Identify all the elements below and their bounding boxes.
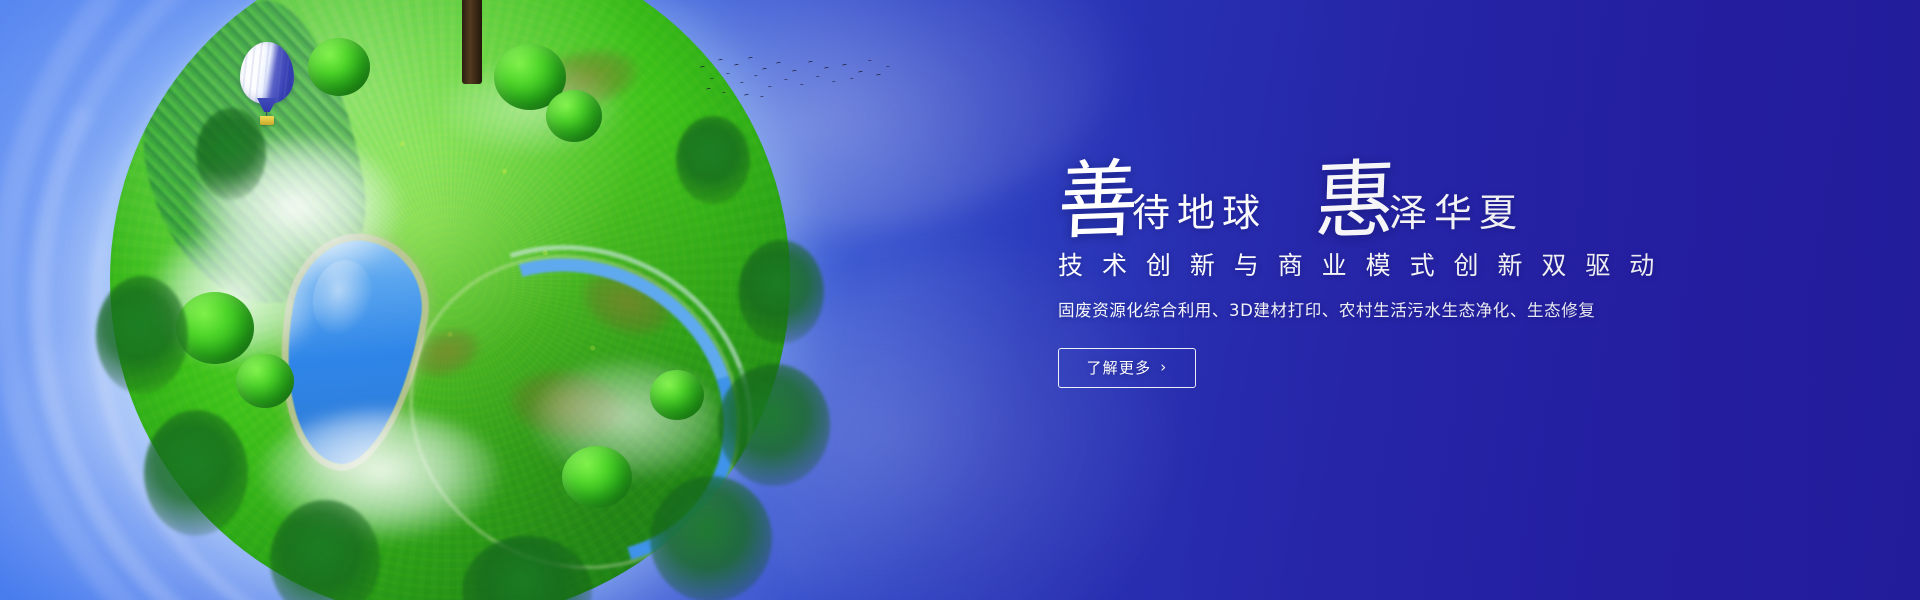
river-highlight <box>342 186 790 600</box>
planet-cloud <box>150 226 320 366</box>
grass-texture-overlay <box>110 0 790 600</box>
chevron-right-icon: › <box>1160 360 1167 375</box>
hero-copy-block: 善 待地球 惠 泽华夏 技 术 创 新 与 商 业 模 式 创 新 双 驱 动 … <box>1058 150 1778 388</box>
headline-brush-char-1: 善 <box>1057 164 1140 240</box>
headline-kicker-1: 待地球 <box>1132 194 1267 236</box>
hero-banner: 善 待地球 惠 泽华夏 技 术 创 新 与 商 业 模 式 创 新 双 驱 动 … <box>0 0 1920 600</box>
planet-cloud <box>260 410 500 540</box>
cloud-wisp <box>0 294 425 600</box>
rim-tree <box>718 364 830 486</box>
planet-cloud <box>194 136 404 286</box>
soil-patch <box>525 39 645 119</box>
soil-patch <box>404 319 487 387</box>
balloon-basket <box>260 116 274 125</box>
headline-brush-char-2: 惠 <box>1314 164 1397 240</box>
rim-tree <box>676 116 750 204</box>
rim-tree <box>144 410 248 536</box>
planet-cloud <box>440 60 620 156</box>
wildflower-speckles <box>110 0 790 600</box>
rim-tree <box>270 500 380 600</box>
planet-cloud <box>530 360 720 480</box>
hot-air-balloon-icon <box>240 42 294 124</box>
grass-texture <box>110 0 790 600</box>
rim-tree <box>738 240 824 344</box>
soil-patch <box>572 257 683 348</box>
river <box>359 202 790 600</box>
tiny-planet-image <box>110 0 790 600</box>
rim-tree <box>650 476 772 600</box>
learn-more-button[interactable]: 了解更多 › <box>1058 348 1196 388</box>
headline-kicker-2: 泽华夏 <box>1389 194 1524 236</box>
learn-more-label: 了解更多 <box>1086 357 1151 378</box>
rim-tree <box>462 536 592 600</box>
rim-tree <box>96 276 188 394</box>
balloon-envelope <box>240 42 294 104</box>
soil-patch <box>504 362 633 448</box>
page-title: 善 待地球 惠 泽华夏 <box>1058 150 1778 236</box>
lake <box>268 231 433 474</box>
planet-globe <box>110 0 790 600</box>
cloud-wisp <box>0 81 421 599</box>
bird-flock <box>696 48 896 104</box>
balloon-skirt <box>257 98 277 112</box>
hero-subheadline: 技 术 创 新 与 商 业 模 式 创 新 双 驱 动 <box>1058 250 1778 283</box>
hero-description: 固废资源化综合利用、3D建材打印、农村生活污水生态净化、生态修复 <box>1058 299 1778 322</box>
cloud-wisp <box>109 394 830 600</box>
cloud-wisp <box>582 0 1139 265</box>
